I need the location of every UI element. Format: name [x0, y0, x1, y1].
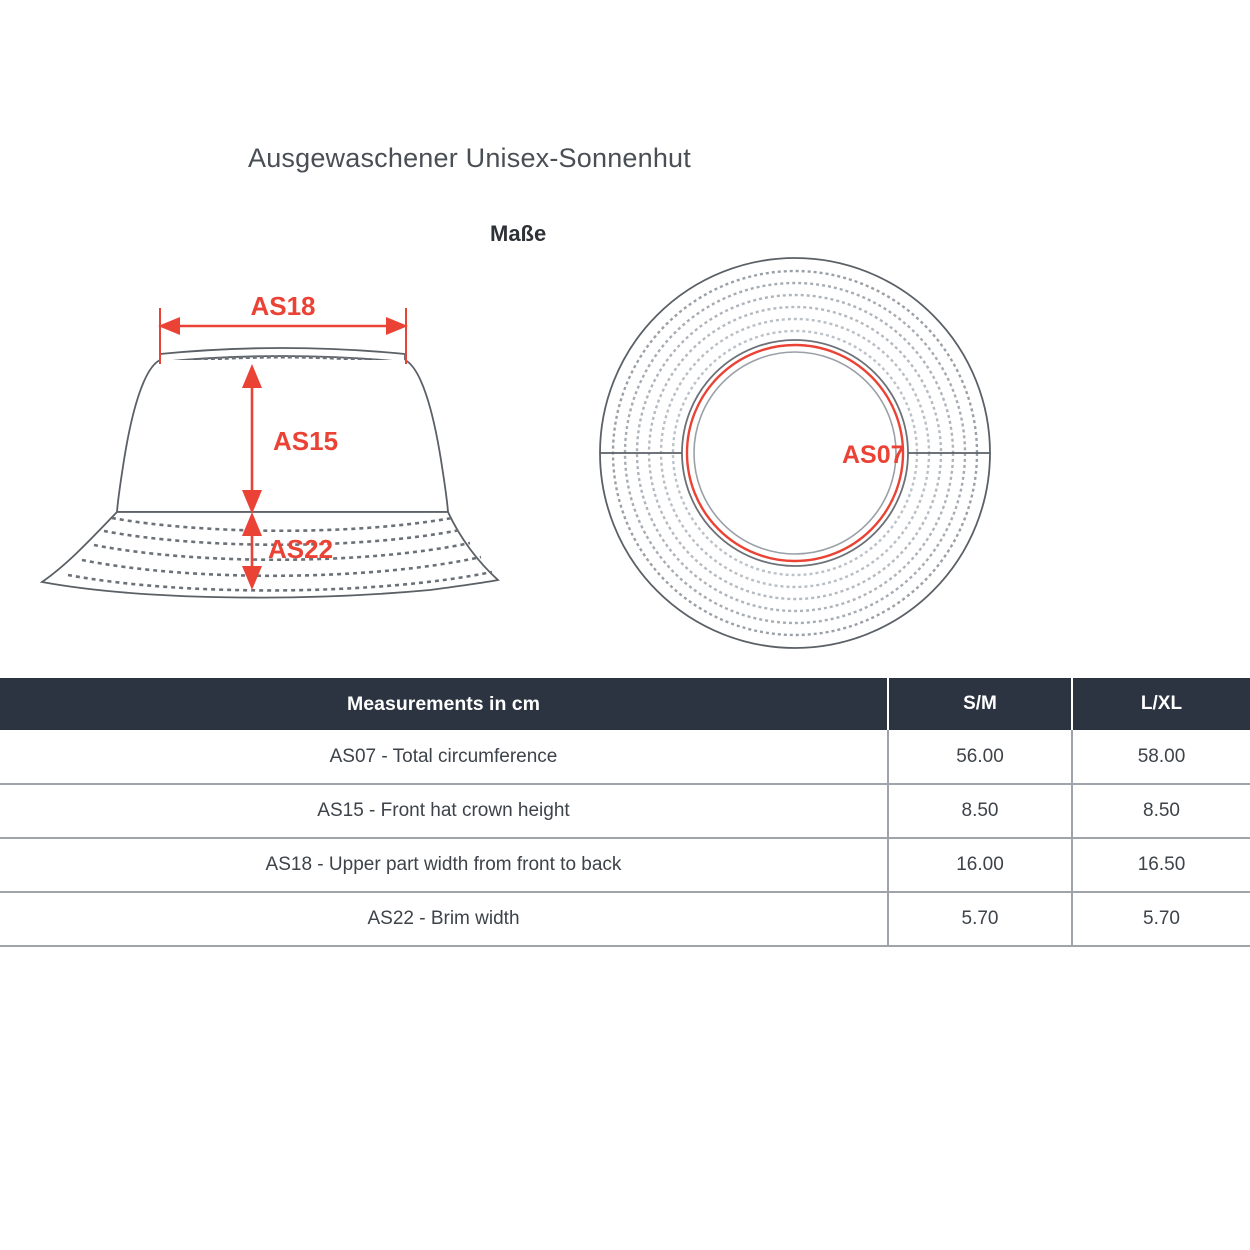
column-header-sm: S/M	[888, 678, 1072, 730]
table-row: AS07 - Total circumference 56.00 58.00	[0, 730, 1250, 784]
section-heading: Maße	[490, 221, 546, 247]
cell-sm: 8.50	[888, 784, 1072, 838]
bucket-hat-top-view-diagram: AS07	[570, 240, 1020, 660]
cell-lxl: 58.00	[1072, 730, 1250, 784]
label-as07: AS07	[842, 441, 905, 469]
cell-lxl: 8.50	[1072, 784, 1250, 838]
bucket-hat-side-view-diagram: AS18 AS15 AS22	[20, 290, 520, 610]
table-header: Measurements in cm S/M L/XL	[0, 678, 1250, 730]
cell-lxl: 16.50	[1072, 838, 1250, 892]
cell-lxl: 5.70	[1072, 892, 1250, 946]
size-chart-page: Ausgewaschener Unisex-Sonnenhut Maße	[0, 0, 1250, 1250]
cell-measurement: AS07 - Total circumference	[0, 730, 888, 784]
table-row: AS15 - Front hat crown height 8.50 8.50	[0, 784, 1250, 838]
cell-measurement: AS18 - Upper part width from front to ba…	[0, 838, 888, 892]
column-header-lxl: L/XL	[1072, 678, 1250, 730]
cell-measurement: AS22 - Brim width	[0, 892, 888, 946]
table-body: AS07 - Total circumference 56.00 58.00 A…	[0, 730, 1250, 946]
table-row: AS22 - Brim width 5.70 5.70	[0, 892, 1250, 946]
page-title: Ausgewaschener Unisex-Sonnenhut	[248, 143, 691, 174]
cell-sm: 5.70	[888, 892, 1072, 946]
label-as15: AS15	[273, 426, 338, 456]
label-as22: AS22	[268, 534, 333, 564]
cell-measurement: AS15 - Front hat crown height	[0, 784, 888, 838]
table-row: AS18 - Upper part width from front to ba…	[0, 838, 1250, 892]
measurements-table: Measurements in cm S/M L/XL AS07 - Total…	[0, 678, 1250, 947]
cell-sm: 16.00	[888, 838, 1072, 892]
cell-sm: 56.00	[888, 730, 1072, 784]
table-header-row: Measurements in cm S/M L/XL	[0, 678, 1250, 730]
label-as18: AS18	[250, 291, 315, 321]
column-header-measurements: Measurements in cm	[0, 678, 888, 730]
